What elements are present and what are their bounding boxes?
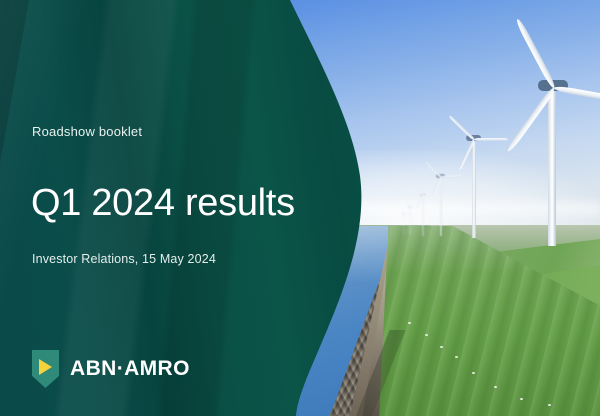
yellow-triangle-arrow-icon: [39, 359, 52, 375]
abn-amro-shield-icon: [32, 350, 59, 388]
presentation-cover-slide: Roadshow booklet Q1 2024 results Investo…: [0, 0, 600, 416]
abn-amro-wordmark: ABN·AMRO: [70, 357, 190, 381]
abn-amro-logo: ABN·AMRO: [32, 350, 190, 388]
slide-meta: Investor Relations, 15 May 2024: [32, 252, 216, 266]
slide-eyebrow: Roadshow booklet: [32, 124, 142, 139]
page-title: Q1 2024 results: [31, 184, 295, 222]
